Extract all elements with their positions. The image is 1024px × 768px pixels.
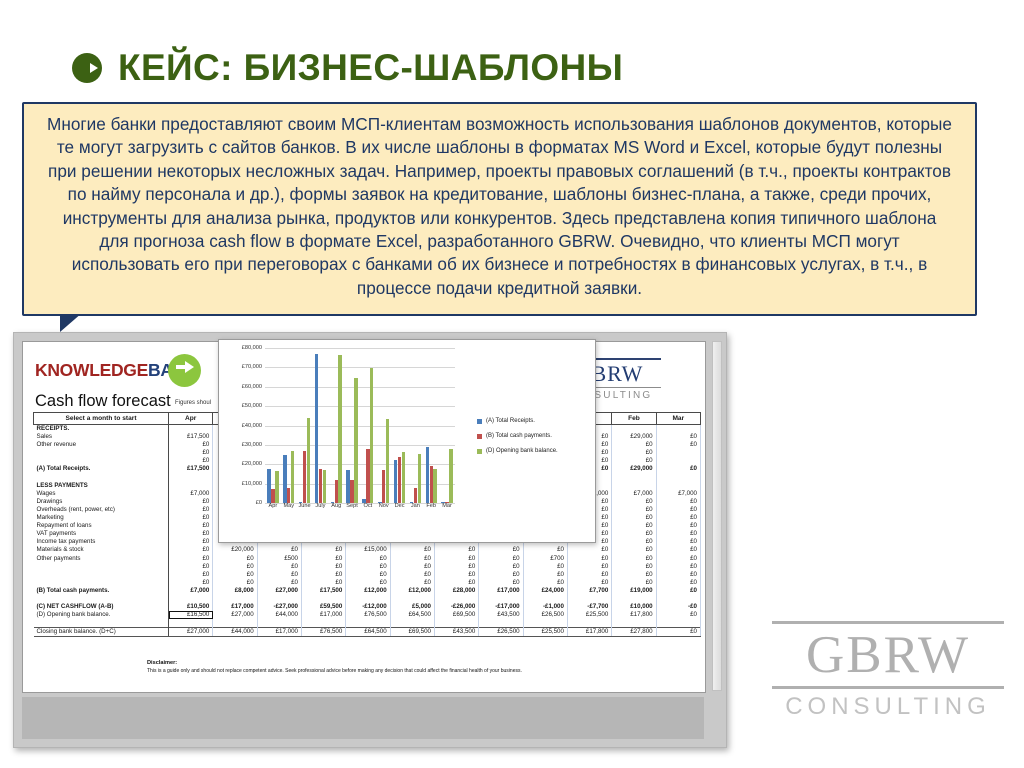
table-cell[interactable] bbox=[169, 619, 213, 628]
table-header-month[interactable]: Mar bbox=[656, 413, 700, 425]
table-cell[interactable]: £0 bbox=[612, 579, 656, 587]
table-cell[interactable]: £0 bbox=[169, 506, 213, 514]
table-cell[interactable]: £64,500 bbox=[390, 611, 434, 619]
table-cell[interactable]: £0 bbox=[301, 546, 345, 554]
table-cell[interactable] bbox=[346, 619, 390, 628]
table-cell[interactable]: £25,500 bbox=[523, 628, 567, 637]
chart-bar bbox=[346, 470, 349, 503]
table-cell[interactable]: £0 bbox=[434, 546, 478, 554]
table-header-select-month[interactable]: Select a month to start bbox=[34, 413, 169, 425]
chart-x-tick-label: May bbox=[281, 503, 297, 509]
table-cell[interactable]: £0 bbox=[390, 546, 434, 554]
worksheet-title: Cash flow forecast bbox=[35, 392, 171, 411]
table-cell[interactable]: £0 bbox=[213, 563, 257, 571]
row-label[interactable] bbox=[34, 579, 169, 587]
row-label[interactable]: Closing bank balance. (D+C) bbox=[34, 628, 169, 637]
table-cell[interactable]: £15,000 bbox=[346, 546, 390, 554]
table-cell[interactable]: £0 bbox=[169, 449, 213, 457]
chart-bar-group bbox=[265, 348, 281, 503]
row-label[interactable]: (D) Opening bank balance. bbox=[34, 611, 169, 619]
table-cell[interactable] bbox=[612, 474, 656, 482]
chart-legend-item: (B) Total cash payments. bbox=[477, 433, 558, 439]
table-cell[interactable]: £0 bbox=[169, 441, 213, 449]
table-cell[interactable]: £7,000 bbox=[169, 490, 213, 498]
table-cell[interactable]: £0 bbox=[479, 563, 523, 571]
table-cell[interactable] bbox=[169, 474, 213, 482]
chart-bar bbox=[449, 449, 452, 503]
callout-box: Многие банки предоставляют своим МСП-кли… bbox=[22, 102, 977, 316]
table-row: (D) Opening bank balance.£16,500£27,000£… bbox=[34, 611, 701, 619]
table-cell[interactable]: £0 bbox=[656, 441, 700, 449]
table-cell[interactable]: £0 bbox=[301, 555, 345, 563]
table-cell[interactable] bbox=[656, 595, 700, 603]
knowledgebank-logo: KNOWLEDGEBANK bbox=[35, 352, 215, 388]
table-cell[interactable]: £7,000 bbox=[656, 490, 700, 498]
table-cell[interactable]: -£26,000 bbox=[434, 603, 478, 611]
chart-bar-group bbox=[360, 348, 376, 503]
row-label[interactable]: Drawings bbox=[34, 498, 169, 506]
table-cell[interactable]: £17,000 bbox=[479, 587, 523, 595]
chart-bar-group bbox=[297, 348, 313, 503]
table-cell[interactable]: £0 bbox=[656, 611, 700, 619]
table-header-month[interactable]: Apr bbox=[169, 413, 213, 425]
chart-legend-item: (A) Total Receipts. bbox=[477, 418, 558, 424]
chart-x-tick-label: June bbox=[297, 503, 313, 509]
row-label[interactable]: VAT payments bbox=[34, 530, 169, 538]
chart-bar bbox=[275, 471, 278, 503]
row-label[interactable]: Sales bbox=[34, 433, 169, 441]
table-cell[interactable]: £0 bbox=[612, 506, 656, 514]
table-cell[interactable]: -£12,000 bbox=[346, 603, 390, 611]
table-cell[interactable]: £17,500 bbox=[301, 587, 345, 595]
table-cell[interactable]: £0 bbox=[434, 579, 478, 587]
legend-swatch bbox=[477, 419, 482, 424]
watermark-rule-bottom bbox=[772, 686, 1004, 689]
table-cell[interactable]: £0 bbox=[656, 563, 700, 571]
table-cell[interactable]: £0 bbox=[612, 498, 656, 506]
row-label[interactable] bbox=[34, 571, 169, 579]
table-cell[interactable]: £0 bbox=[523, 571, 567, 579]
table-cell[interactable]: £0 bbox=[612, 441, 656, 449]
table-cell[interactable]: £0 bbox=[257, 563, 301, 571]
table-cell[interactable]: £17,000 bbox=[213, 603, 257, 611]
table-cell[interactable]: £0 bbox=[612, 538, 656, 546]
row-label[interactable]: RECEIPTS. bbox=[34, 425, 169, 434]
row-label[interactable] bbox=[34, 619, 169, 628]
table-cell[interactable]: £24,000 bbox=[523, 587, 567, 595]
table-cell[interactable]: £0 bbox=[346, 571, 390, 579]
row-label[interactable] bbox=[34, 563, 169, 571]
table-cell[interactable]: £27,000 bbox=[257, 587, 301, 595]
excel-bottom-bar bbox=[22, 697, 704, 739]
table-cell[interactable]: £44,000 bbox=[213, 628, 257, 637]
chart-bar-group bbox=[281, 348, 297, 503]
chart-bar bbox=[402, 452, 405, 503]
table-cell[interactable]: £44,000 bbox=[257, 611, 301, 619]
chart-x-tick-label: Oct bbox=[360, 503, 376, 509]
table-cell[interactable]: £0 bbox=[523, 563, 567, 571]
chart-bar bbox=[287, 488, 290, 504]
table-cell[interactable] bbox=[656, 449, 700, 457]
table-cell[interactable]: £0 bbox=[612, 522, 656, 530]
table-cell[interactable]: £0 bbox=[213, 579, 257, 587]
table-cell[interactable]: £19,000 bbox=[612, 587, 656, 595]
table-cell[interactable] bbox=[301, 595, 345, 603]
table-cell[interactable] bbox=[434, 595, 478, 603]
table-cell[interactable]: £0 bbox=[656, 530, 700, 538]
table-cell[interactable] bbox=[656, 482, 700, 490]
table-cell[interactable]: £0 bbox=[612, 514, 656, 522]
table-cell[interactable]: £64,500 bbox=[346, 628, 390, 637]
table-cell[interactable]: -£1,000 bbox=[523, 603, 567, 611]
chart-bar bbox=[382, 470, 385, 503]
table-row bbox=[34, 595, 701, 603]
table-cell[interactable]: £0 bbox=[612, 546, 656, 554]
table-cell[interactable] bbox=[390, 595, 434, 603]
table-row: £0£0£0£0£0£0£0£0£0£0£0£0 bbox=[34, 571, 701, 579]
watermark-name: GBRW bbox=[772, 628, 1004, 682]
table-cell[interactable]: £0 bbox=[301, 579, 345, 587]
table-cell[interactable] bbox=[612, 482, 656, 490]
row-label[interactable]: (C) NET CASHFLOW (A-B) bbox=[34, 603, 169, 611]
table-cell[interactable]: £0 bbox=[656, 555, 700, 563]
chart-bar-group bbox=[376, 348, 392, 503]
table-cell[interactable]: £27,000 bbox=[169, 628, 213, 637]
chart-x-tick-label: Jan bbox=[407, 503, 423, 509]
table-cell[interactable]: £0 bbox=[169, 522, 213, 530]
table-cell[interactable]: £0 bbox=[169, 563, 213, 571]
chart-bar bbox=[307, 418, 310, 503]
table-cell[interactable] bbox=[567, 595, 611, 603]
table-cell[interactable] bbox=[567, 619, 611, 628]
table-cell[interactable]: £12,000 bbox=[346, 587, 390, 595]
table-cell[interactable]: £0 bbox=[656, 514, 700, 522]
table-cell[interactable]: £0 bbox=[301, 563, 345, 571]
watermark-subtitle: CONSULTING bbox=[772, 693, 1004, 721]
table-cell[interactable]: £0 bbox=[169, 579, 213, 587]
table-cell[interactable]: £0 bbox=[479, 579, 523, 587]
table-cell[interactable] bbox=[612, 425, 656, 434]
table-cell[interactable]: £10,500 bbox=[169, 603, 213, 611]
table-cell[interactable]: £0 bbox=[656, 433, 700, 441]
table-cell[interactable]: £0 bbox=[169, 457, 213, 465]
chart-bar bbox=[319, 469, 322, 503]
table-cell[interactable]: £0 bbox=[390, 571, 434, 579]
circle-arrow-icon bbox=[70, 51, 104, 85]
table-cell[interactable]: £25,500 bbox=[567, 611, 611, 619]
table-cell[interactable]: £17,000 bbox=[301, 611, 345, 619]
table-cell[interactable]: £27,800 bbox=[612, 628, 656, 637]
vertical-scrollbar[interactable] bbox=[712, 341, 722, 691]
row-label[interactable]: (B) Total cash payments. bbox=[34, 587, 169, 595]
table-cell[interactable]: £0 bbox=[479, 571, 523, 579]
table-cell[interactable]: £0 bbox=[567, 555, 611, 563]
table-cell[interactable]: £0 bbox=[434, 555, 478, 563]
table-cell[interactable]: £8,000 bbox=[213, 587, 257, 595]
watermark-rule-top bbox=[772, 621, 1004, 624]
table-cell[interactable] bbox=[612, 595, 656, 603]
legend-swatch bbox=[477, 449, 482, 454]
chart-y-tick-label: £0 bbox=[256, 500, 262, 506]
chart-x-tick-label: July bbox=[312, 503, 328, 509]
chart-bar bbox=[366, 449, 369, 503]
table-cell[interactable]: £0 bbox=[346, 563, 390, 571]
chart-bar bbox=[386, 419, 389, 503]
table-cell[interactable] bbox=[213, 595, 257, 603]
table-cell[interactable]: £0 bbox=[656, 465, 700, 473]
table-cell[interactable]: £0 bbox=[567, 571, 611, 579]
chart-x-tick-label: Dec bbox=[392, 503, 408, 509]
chart-bar bbox=[418, 454, 421, 503]
table-cell[interactable]: £5,000 bbox=[390, 603, 434, 611]
table-row: £0£0£0£0£0£0£0£0£0£0£0£0 bbox=[34, 579, 701, 587]
table-cell[interactable]: £0 bbox=[656, 538, 700, 546]
table-cell[interactable]: £0 bbox=[656, 522, 700, 530]
table-cell[interactable] bbox=[523, 595, 567, 603]
table-cell[interactable] bbox=[301, 619, 345, 628]
disclaimer: Disclaimer: This is a guide only and sho… bbox=[147, 660, 647, 674]
chart-bar bbox=[398, 457, 401, 504]
chart-bar bbox=[430, 466, 433, 503]
legend-swatch bbox=[477, 434, 482, 439]
table-cell[interactable]: £76,500 bbox=[301, 628, 345, 637]
green-arrow-icon bbox=[168, 354, 201, 387]
table-cell[interactable] bbox=[257, 595, 301, 603]
table-cell[interactable]: £0 bbox=[612, 449, 656, 457]
table-row: (B) Total cash payments.£7,000£8,000£27,… bbox=[34, 587, 701, 595]
table-cell[interactable]: £0 bbox=[612, 571, 656, 579]
chart-bar bbox=[291, 451, 294, 503]
table-cell[interactable] bbox=[213, 619, 257, 628]
table-cell[interactable]: £0 bbox=[213, 555, 257, 563]
table-cell[interactable]: £0 bbox=[257, 546, 301, 554]
table-row: Materials & stock£0£20,000£0£0£15,000£0£… bbox=[34, 546, 701, 554]
table-cell[interactable]: £0 bbox=[390, 555, 434, 563]
legend-label: (B) Total cash payments. bbox=[486, 433, 552, 439]
table-cell[interactable]: £76,500 bbox=[346, 611, 390, 619]
row-label[interactable]: Materials & stock bbox=[34, 546, 169, 554]
table-cell[interactable] bbox=[656, 474, 700, 482]
table-row: (C) NET CASHFLOW (A-B)£10,500£17,000-£27… bbox=[34, 603, 701, 611]
table-cell[interactable]: £28,000 bbox=[434, 587, 478, 595]
chart-y-tick-label: £20,000 bbox=[242, 461, 262, 467]
table-cell[interactable]: £69,500 bbox=[390, 628, 434, 637]
table-cell[interactable]: £0 bbox=[169, 530, 213, 538]
row-label[interactable]: Overheads (rent, power, etc) bbox=[34, 506, 169, 514]
table-cell[interactable]: -£17,000 bbox=[479, 603, 523, 611]
table-cell[interactable]: £7,000 bbox=[169, 587, 213, 595]
row-label[interactable] bbox=[34, 595, 169, 603]
table-cell[interactable]: £0 bbox=[434, 563, 478, 571]
table-cell[interactable]: £7,000 bbox=[612, 490, 656, 498]
table-cell[interactable] bbox=[346, 595, 390, 603]
chart-bar bbox=[303, 451, 306, 503]
chart-bar-group bbox=[407, 348, 423, 503]
row-label[interactable]: Marketing bbox=[34, 514, 169, 522]
chart-y-tick-label: £60,000 bbox=[242, 384, 262, 390]
table-cell[interactable] bbox=[169, 595, 213, 603]
chart-bar bbox=[394, 460, 397, 503]
chart-bar-group bbox=[312, 348, 328, 503]
table-cell[interactable] bbox=[434, 619, 478, 628]
table-cell[interactable]: £17,500 bbox=[169, 433, 213, 441]
chart-y-tick-label: £70,000 bbox=[242, 364, 262, 370]
chart-bar-group bbox=[423, 348, 439, 503]
table-cell[interactable] bbox=[479, 619, 523, 628]
table-cell[interactable]: £26,500 bbox=[479, 628, 523, 637]
table-cell[interactable] bbox=[656, 425, 700, 434]
chart-legend-item: (D) Opening bank balance. bbox=[477, 448, 558, 454]
page-title: КЕЙС: БИЗНЕС-ШАБЛОНЫ bbox=[70, 44, 870, 92]
table-cell[interactable]: £700 bbox=[523, 555, 567, 563]
row-label[interactable] bbox=[34, 457, 169, 465]
table-cell[interactable]: £0 bbox=[567, 563, 611, 571]
chart-plot-area: £0£10,000£20,000£30,000£40,000£50,000£60… bbox=[265, 348, 455, 503]
table-cell[interactable]: £0 bbox=[390, 563, 434, 571]
table-cell[interactable]: £0 bbox=[434, 571, 478, 579]
chart-bar bbox=[335, 480, 338, 503]
row-label[interactable]: Income tax payments bbox=[34, 538, 169, 546]
chart-bar-group bbox=[392, 348, 408, 503]
table-cell[interactable]: £0 bbox=[257, 571, 301, 579]
table-cell[interactable]: £0 bbox=[257, 579, 301, 587]
chart-x-axis: AprMayJuneJulyAugSeptOctNovDecJanFebMar bbox=[265, 503, 455, 509]
table-cell[interactable]: £0 bbox=[390, 579, 434, 587]
table-cell[interactable]: £17,800 bbox=[567, 628, 611, 637]
table-cell[interactable]: £26,500 bbox=[523, 611, 567, 619]
chart-bar bbox=[414, 488, 417, 503]
table-cell[interactable]: £0 bbox=[567, 579, 611, 587]
table-cell[interactable]: £0 bbox=[169, 538, 213, 546]
chart-bar bbox=[370, 368, 373, 503]
table-row bbox=[34, 619, 701, 628]
chart-x-tick-label: Sept bbox=[344, 503, 360, 509]
table-cell[interactable] bbox=[656, 457, 700, 465]
row-label[interactable]: Other revenue bbox=[34, 441, 169, 449]
table-cell[interactable]: £0 bbox=[656, 498, 700, 506]
table-cell[interactable] bbox=[390, 619, 434, 628]
table-cell[interactable]: £0 bbox=[656, 587, 700, 595]
table-cell[interactable]: £27,000 bbox=[213, 611, 257, 619]
table-cell[interactable]: -£0 bbox=[656, 603, 700, 611]
chart-bar bbox=[433, 469, 436, 503]
table-cell[interactable]: £17,500 bbox=[169, 465, 213, 473]
row-label[interactable] bbox=[34, 449, 169, 457]
table-cell[interactable]: £0 bbox=[346, 555, 390, 563]
chart-bar-group bbox=[328, 348, 344, 503]
table-cell[interactable]: £0 bbox=[479, 546, 523, 554]
chart-y-tick-label: £10,000 bbox=[242, 481, 262, 487]
table-cell[interactable]: -£7,700 bbox=[567, 603, 611, 611]
chart-x-tick-label: Aug bbox=[328, 503, 344, 509]
table-cell[interactable]: £0 bbox=[523, 546, 567, 554]
table-cell[interactable]: £0 bbox=[169, 514, 213, 522]
table-cell[interactable]: £0 bbox=[169, 555, 213, 563]
table-cell[interactable]: £59,500 bbox=[301, 603, 345, 611]
table-cell[interactable]: £0 bbox=[169, 546, 213, 554]
disclaimer-text: This is a guide only and should not repl… bbox=[147, 668, 647, 674]
table-cell[interactable]: £0 bbox=[656, 628, 700, 637]
table-cell[interactable] bbox=[257, 619, 301, 628]
chart-x-tick-label: Mar bbox=[439, 503, 455, 509]
table-cell[interactable]: £0 bbox=[523, 579, 567, 587]
chart-bar bbox=[267, 469, 270, 503]
chart-y-tick-label: £30,000 bbox=[242, 442, 262, 448]
gbrw-watermark: GBRW CONSULTING bbox=[772, 617, 1004, 721]
chart-bar bbox=[338, 355, 341, 503]
disclaimer-heading: Disclaimer: bbox=[147, 660, 647, 666]
row-label[interactable]: Other payments bbox=[34, 555, 169, 563]
table-cell[interactable]: £0 bbox=[612, 457, 656, 465]
row-label[interactable]: Repayment of loans bbox=[34, 522, 169, 530]
chart-bar-group bbox=[344, 348, 360, 503]
table-cell[interactable]: -£27,000 bbox=[257, 603, 301, 611]
chart-bar-group bbox=[439, 348, 455, 503]
table-cell[interactable]: £0 bbox=[346, 579, 390, 587]
table-cell[interactable]: £43,500 bbox=[434, 628, 478, 637]
table-cell[interactable]: £0 bbox=[656, 506, 700, 514]
table-cell[interactable]: £0 bbox=[213, 571, 257, 579]
table-cell[interactable]: £16,500 bbox=[169, 611, 213, 619]
table-cell[interactable] bbox=[656, 619, 700, 628]
table-cell[interactable]: £0 bbox=[567, 546, 611, 554]
table-cell[interactable]: £20,000 bbox=[213, 546, 257, 554]
table-header-month[interactable]: Feb bbox=[612, 413, 656, 425]
row-label[interactable]: Wages bbox=[34, 490, 169, 498]
table-cell[interactable]: £0 bbox=[656, 546, 700, 554]
table-cell[interactable]: £0 bbox=[301, 571, 345, 579]
chart-y-tick-label: £40,000 bbox=[242, 423, 262, 429]
table-cell[interactable]: £7,700 bbox=[567, 587, 611, 595]
chart-bar bbox=[315, 354, 318, 503]
table-cell[interactable]: £12,000 bbox=[390, 587, 434, 595]
table-cell[interactable]: £17,000 bbox=[257, 628, 301, 637]
table-row: £0£0£0£0£0£0£0£0£0£0£0£0 bbox=[34, 563, 701, 571]
table-cell[interactable] bbox=[523, 619, 567, 628]
table-cell[interactable]: £0 bbox=[612, 555, 656, 563]
table-cell[interactable]: £500 bbox=[257, 555, 301, 563]
table-cell[interactable]: £29,000 bbox=[612, 465, 656, 473]
row-label[interactable] bbox=[34, 474, 169, 482]
table-cell[interactable]: £43,500 bbox=[479, 611, 523, 619]
table-cell[interactable]: £0 bbox=[656, 571, 700, 579]
table-cell[interactable]: £0 bbox=[612, 563, 656, 571]
table-cell[interactable]: £0 bbox=[169, 498, 213, 506]
table-cell[interactable]: £69,500 bbox=[434, 611, 478, 619]
callout-text: Многие банки предоставляют своим МСП-кли… bbox=[46, 113, 953, 300]
table-cell[interactable]: £17,800 bbox=[612, 611, 656, 619]
chart-bar bbox=[323, 470, 326, 503]
cashflow-chart: £0£10,000£20,000£30,000£40,000£50,000£60… bbox=[218, 339, 596, 543]
table-cell[interactable]: £0 bbox=[479, 555, 523, 563]
table-cell[interactable] bbox=[169, 425, 213, 434]
table-cell[interactable]: £0 bbox=[656, 579, 700, 587]
table-cell[interactable]: £10,000 bbox=[612, 603, 656, 611]
row-label[interactable]: (A) Total Receipts. bbox=[34, 465, 169, 473]
table-row: Other payments£0£0£500£0£0£0£0£0£700£0£0… bbox=[34, 555, 701, 563]
table-cell[interactable]: £29,000 bbox=[612, 433, 656, 441]
table-cell[interactable] bbox=[479, 595, 523, 603]
chart-x-tick-label: Nov bbox=[376, 503, 392, 509]
legend-label: (D) Opening bank balance. bbox=[486, 448, 558, 454]
chart-bar bbox=[271, 489, 274, 503]
table-cell[interactable]: £0 bbox=[612, 530, 656, 538]
chart-x-tick-label: Apr bbox=[265, 503, 281, 509]
table-cell[interactable]: £0 bbox=[169, 571, 213, 579]
table-cell[interactable] bbox=[612, 619, 656, 628]
table-cell[interactable] bbox=[169, 482, 213, 490]
row-label[interactable]: LESS PAYMENTS bbox=[34, 482, 169, 490]
